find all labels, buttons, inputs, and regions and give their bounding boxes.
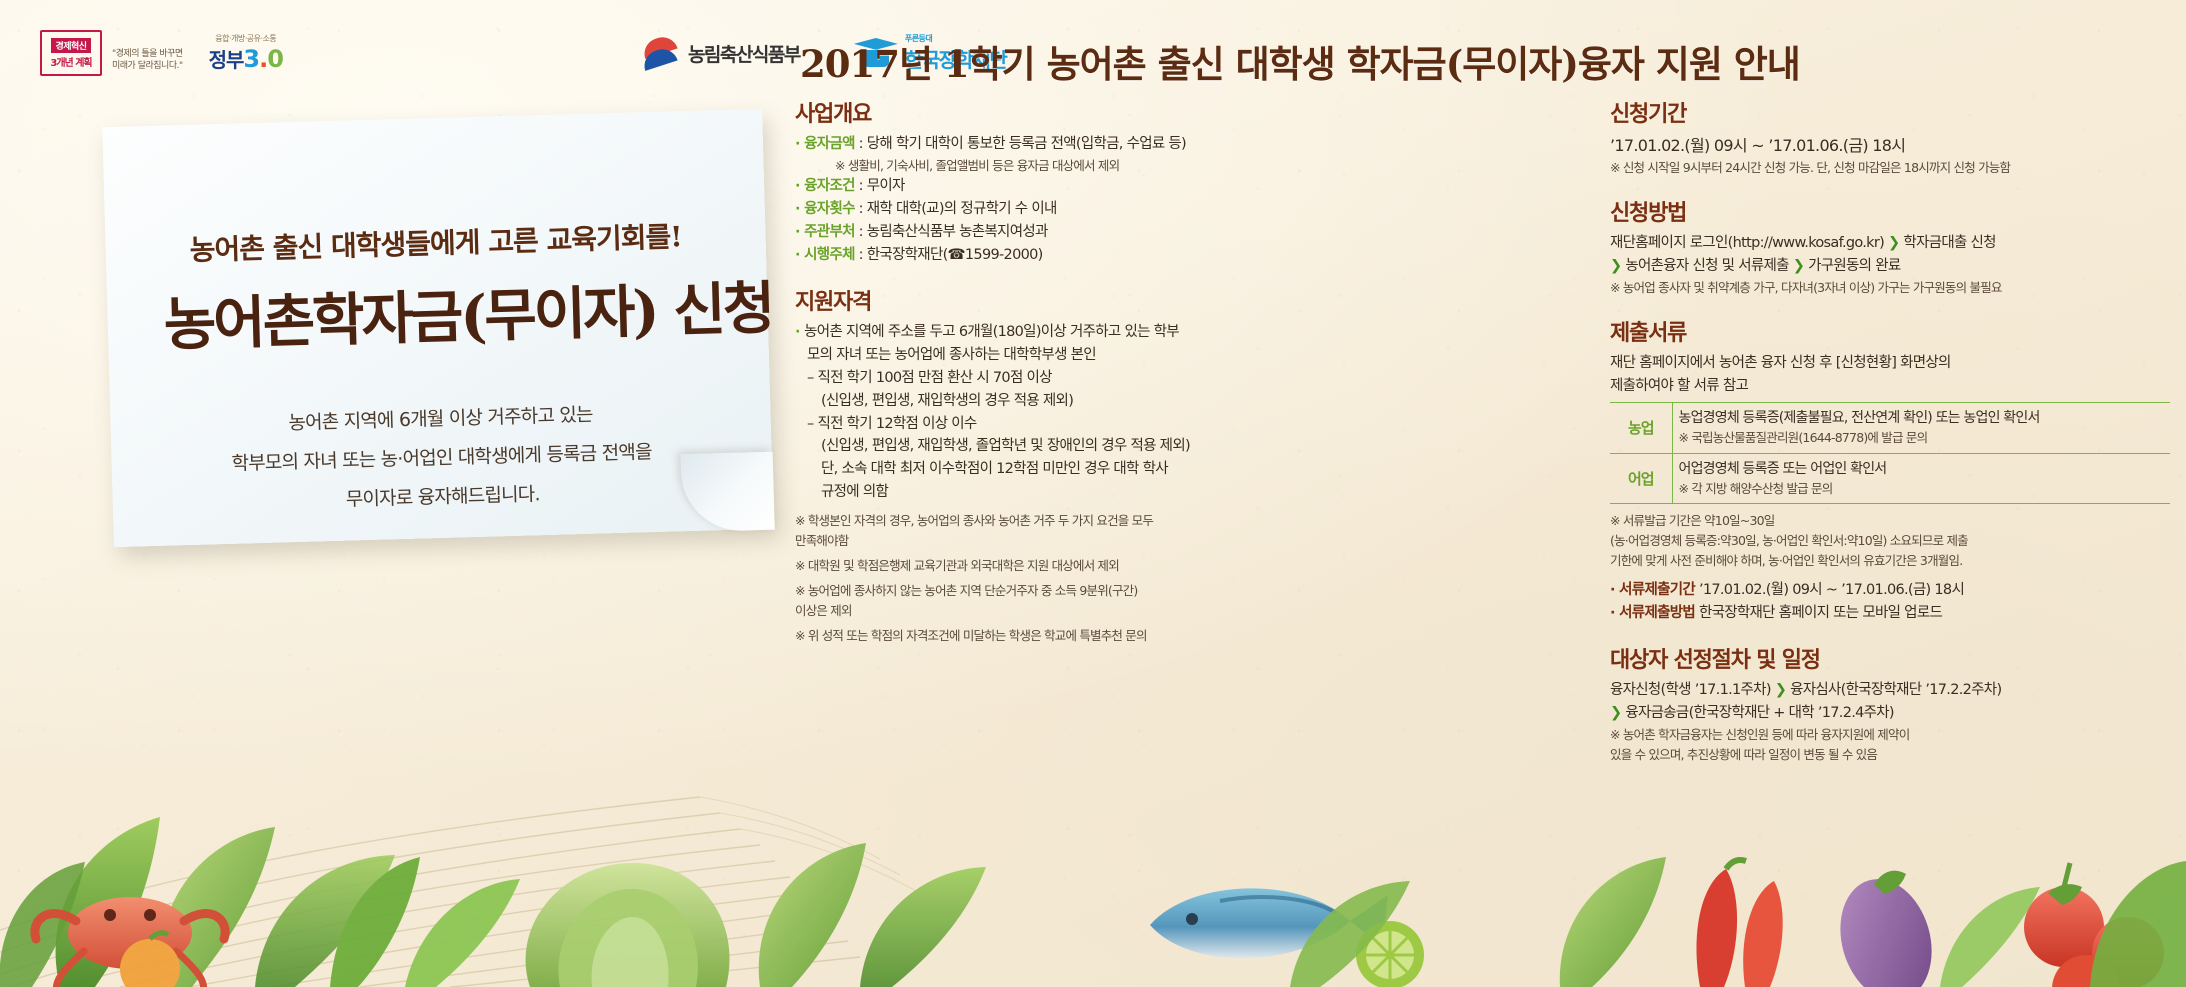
overview-item-1-label: 융자조건: [804, 178, 855, 194]
schedule-note-line-1: ※ 농어촌 학자금융자는 신청인원 등에 따라 융자지원에 제약이: [1610, 725, 2170, 745]
left-text-column: 사업개요 융자금액 : 당해 학기 대학이 통보한 등록금 전액(입학금, 수업…: [795, 96, 1485, 663]
overview-item-4-label: 시행주체: [804, 247, 855, 263]
period-heading: 신청기간: [1610, 96, 2170, 128]
schedule-step-3: 융자금송금(한국장학재단 + 대학 ’17.2.4주차): [1625, 705, 1894, 721]
schedule-note-line-2: 있을 수 있으며, 추진상황에 따라 일정이 변동 될 수 있음: [1610, 745, 2170, 765]
documents-submit-method-label: 서류제출방법: [1619, 605, 1695, 621]
schedule-step-2: 융자심사(한국장학재단 ’17.2.2주차): [1790, 682, 2001, 698]
documents-row-0-detail-cell: 농업경영체 등록증(제출불필요, 전산연계 확인) 또는 농업인 확인서 ※ 국…: [1672, 402, 2170, 453]
method-heading: 신청방법: [1610, 195, 2170, 227]
gov-plan-slogan: "경제의 틀을 바꾸면 미래가 달라집니다.": [112, 48, 183, 76]
gov-plan-line2: 3개년 계획: [50, 54, 91, 69]
overview-item-2-label: 융자횟수: [804, 201, 855, 217]
documents-row-1-detail: 어업경영체 등록증 또는 어업인 확인서: [1679, 459, 2165, 480]
documents-row-0-category: 농업: [1610, 402, 1672, 453]
arrow-right-icon-4: ❯: [1775, 682, 1786, 698]
overview-note: ※ 생활비, 기숙사비, 졸업앨범비 등은 융자금 대상에서 제외: [795, 156, 1485, 175]
eligibility-note-4: 이상은 제외: [795, 601, 1485, 621]
gov30-wordmark: 정부3.0: [209, 44, 283, 73]
overview-heading: 사업개요: [795, 96, 1485, 128]
section-application-method: 신청방법 재단홈페이지 로그인(http://www.kosaf.go.kr) …: [1610, 195, 2170, 298]
method-steps-row-2: ❯ 농어촌융자 신청 및 서류제출 ❯ 가구원동의 완료: [1610, 255, 2170, 278]
table-row: 어업 어업경영체 등록증 또는 어업인 확인서 ※ 각 지방 해양수산청 발급 …: [1610, 453, 2170, 504]
eligibility-note-2: ※ 대학원 및 학점은행제 교육기관과 외국대학은 지원 대상에서 제외: [795, 556, 1485, 576]
overview-item-3: 주관부처 : 농림축산식품부 농촌복지여성과: [795, 221, 1485, 244]
poster-root: 경제혁신 3개년 계획 "경제의 틀을 바꾸면 미래가 달라집니다." 융합·개…: [0, 0, 2186, 987]
documents-row-0-note: ※ 국립농산물품질관리원(1644-8778)에 발급 문의: [1679, 429, 2165, 448]
slogan-line-2: 미래가 달라집니다.": [112, 60, 183, 72]
eligibility-note-5: ※ 위 성적 또는 학점의 자격조건에 미달하는 학생은 학교에 특별추천 문의: [795, 626, 1485, 646]
schedule-row-2: ❯ 융자금송금(한국장학재단 + 대학 ’17.2.4주차): [1610, 702, 2170, 725]
mafra-logo: 농림축산식품부: [639, 33, 800, 73]
paper-main-title: 농어촌학자금(무이자) 신청: [163, 264, 713, 361]
method-steps-row-1: 재단홈페이지 로그인(http://www.kosaf.go.kr) ❯ 학자금…: [1610, 232, 2170, 255]
eligibility-sub-1-dash: 직전 학기 12학점 이상 이수: [795, 413, 1485, 436]
documents-submit-period: 서류제출기간 ’17.01.02.(월) 09시 ~ ’17.01.06.(금)…: [1610, 579, 2170, 602]
period-range: ’17.01.02.(월) 09시 ~ ’17.01.06.(금) 18시: [1610, 133, 2170, 158]
schedule-step-1: 융자신청(학생 ’17.1.1주차): [1610, 682, 1771, 698]
documents-intro-line-1: 재단 홈페이지에서 농어촌 융자 신청 후 [신청현황] 화면상의: [1610, 352, 2170, 375]
method-note: ※ 농어업 종사자 및 취약계층 가구, 다자녀(3자녀 이상) 가구는 가구원…: [1610, 278, 2170, 298]
eligibility-main-line-2: 모의 자녀 또는 농어업에 종사하는 대학학부생 본인: [795, 344, 1485, 367]
overview-item-0-label: 융자금액: [804, 136, 855, 152]
section-application-period: 신청기간 ’17.01.02.(월) 09시 ~ ’17.01.06.(금) 1…: [1610, 96, 2170, 178]
eligibility-sub-0-dash: 직전 학기 100점 만점 환산 시 70점 이상: [795, 367, 1485, 390]
documents-table: 농업 농업경영체 등록증(제출불필요, 전산연계 확인) 또는 농업인 확인서 …: [1610, 402, 2170, 505]
section-eligibility: 지원자격 농어촌 지역에 주소를 두고 6개월(180일)이상 거주하고 있는 …: [795, 284, 1485, 646]
overview-item-3-label: 주관부처: [804, 224, 855, 240]
eligibility-sub-1-extra-2: 규정에 의함: [795, 481, 1485, 504]
overview-item-3-value: 농림축산식품부 농촌복지여성과: [867, 224, 1048, 240]
method-step-3: 농어촌융자 신청 및 서류제출: [1625, 258, 1788, 274]
overview-item-0-value: 당해 학기 대학이 통보한 등록금 전액(입학금, 수업료 등): [867, 136, 1186, 152]
method-step-2: 학자금대출 신청: [1903, 235, 1995, 251]
gov30-caption: 융합·개방·공유·소통: [215, 33, 276, 44]
method-step-4: 가구원동의 완료: [1808, 258, 1900, 274]
headline-paper-card: 농어촌 출신 대학생들에게 고른 교육기회를! 농어촌학자금(무이자) 신청 농…: [102, 109, 773, 547]
overview-item-4-value: 한국장학재단(☎1599-2000): [867, 247, 1043, 263]
documents-heading: 제출서류: [1610, 315, 2170, 347]
taegeuk-swoosh-icon: [639, 33, 679, 73]
documents-note-1: (농·어업경영체 등록증:약30일, 농·어업인 확인서:약10일) 소요되므로…: [1610, 531, 2170, 551]
table-row: 농업 농업경영체 등록증(제출불필요, 전산연계 확인) 또는 농업인 확인서 …: [1610, 402, 2170, 453]
mafra-label: 농림축산식품부: [688, 40, 800, 67]
documents-submit-method: 서류제출방법 한국장학재단 홈페이지 또는 모바일 업로드: [1610, 602, 2170, 625]
overview-item-1: 융자조건 : 무이자: [795, 175, 1485, 198]
documents-submit-period-label: 서류제출기간: [1619, 582, 1695, 598]
documents-submit-method-value: 한국장학재단 홈페이지 또는 모바일 업로드: [1699, 605, 1942, 621]
section-schedule: 대상자 선정절차 및 일정 융자신청(학생 ’17.1.1주차) ❯ 융자심사(…: [1610, 642, 2170, 765]
schedule-row-1: 융자신청(학생 ’17.1.1주차) ❯ 융자심사(한국장학재단 ’17.2.2…: [1610, 679, 2170, 702]
eligibility-note-3: ※ 농어업에 종사하지 않는 농어촌 지역 단순거주자 중 소득 9분위(구간): [795, 581, 1485, 601]
arrow-right-icon-2: ❯: [1610, 258, 1621, 274]
eligibility-note-1: 만족해야함: [795, 531, 1485, 551]
documents-note-0: ※ 서류발급 기간은 약10일~30일: [1610, 511, 2170, 531]
overview-item-0: 융자금액 : 당해 학기 대학이 통보한 등록금 전액(입학금, 수업료 등): [795, 133, 1485, 156]
section-documents: 제출서류 재단 홈페이지에서 농어촌 융자 신청 후 [신청현황] 화면상의 제…: [1610, 315, 2170, 625]
period-note: ※ 신청 시작일 9시부터 24시간 신청 가능. 단, 신청 마감일은 18시…: [1610, 158, 2170, 178]
arrow-right-icon-1: ❯: [1888, 235, 1899, 251]
documents-intro-line-2: 제출하여야 할 서류 참고: [1610, 375, 2170, 398]
documents-submit-period-value: ’17.01.02.(월) 09시 ~ ’17.01.06.(금) 18시: [1699, 582, 1964, 598]
overview-item-2-value: 재학 대학(교)의 정규학기 수 이내: [867, 201, 1057, 217]
overview-item-2: 융자횟수 : 재학 대학(교)의 정규학기 수 이내: [795, 198, 1485, 221]
paper-kicker: 농어촌 출신 대학생들에게 고른 교육기회를!: [161, 214, 710, 269]
eligibility-sub-1-extra-1: 단, 소속 대학 최저 이수학점이 12학점 미만인 경우 대학 학사: [795, 458, 1485, 481]
eligibility-sub-1-paren: (신입생, 편입생, 재입학생, 졸업학년 및 장애인의 경우 적용 제외): [795, 435, 1485, 458]
schedule-heading: 대상자 선정절차 및 일정: [1610, 642, 2170, 674]
slogan-line-1: "경제의 틀을 바꾸면: [112, 48, 183, 60]
documents-note-2: 기한에 맞게 사전 준비해야 하며, 농·어업인 확인서의 유효기간은 3개월임…: [1610, 551, 2170, 571]
eligibility-heading: 지원자격: [795, 284, 1485, 316]
overview-item-1-value: 무이자: [867, 178, 905, 194]
eligibility-note-0: ※ 학생본인 자격의 경우, 농어업의 종사와 농어촌 거주 두 가지 요건을 …: [795, 511, 1485, 531]
documents-row-1-category: 어업: [1610, 453, 1672, 504]
eligibility-sub-0-paren: (신입생, 편입생, 재입학생의 경우 적용 제외): [795, 390, 1485, 413]
documents-row-1-note: ※ 각 지방 해양수산청 발급 문의: [1679, 480, 2165, 499]
right-text-column: 신청기간 ’17.01.02.(월) 09시 ~ ’17.01.06.(금) 1…: [1610, 96, 2170, 782]
method-step-1: 재단홈페이지 로그인(http://www.kosaf.go.kr): [1610, 235, 1884, 251]
gov-plan-line1: 경제혁신: [51, 38, 90, 53]
gov-plan-mark: 경제혁신 3개년 계획: [40, 30, 102, 76]
documents-row-1-detail-cell: 어업경영체 등록증 또는 어업인 확인서 ※ 각 지방 해양수산청 발급 문의: [1672, 453, 2170, 504]
section-overview: 사업개요 융자금액 : 당해 학기 대학이 통보한 등록금 전액(입학금, 수업…: [795, 96, 1485, 267]
overview-item-4: 시행주체 : 한국장학재단(☎1599-2000): [795, 244, 1485, 267]
paper-body: 농어촌 지역에 6개월 이상 거주하고 있는 학부모의 자녀 또는 농·어업인 …: [166, 392, 717, 524]
gov30-logo: 융합·개방·공유·소통 정부3.0: [209, 33, 283, 73]
documents-row-0-detail: 농업경영체 등록증(제출불필요, 전산연계 확인) 또는 농업인 확인서: [1679, 408, 2165, 429]
page-title: 2017년 1학기 농어촌 출신 대학생 학자금(무이자)융자 지원 안내: [800, 34, 2160, 88]
arrow-right-icon-5: ❯: [1610, 705, 1621, 721]
eligibility-main-line-1: 농어촌 지역에 주소를 두고 6개월(180일)이상 거주하고 있는 학부: [795, 321, 1485, 344]
arrow-right-icon-3: ❯: [1793, 258, 1804, 274]
gov-economy-plan-logo: 경제혁신 3개년 계획 "경제의 틀을 바꾸면 미래가 달라집니다.": [40, 30, 183, 76]
